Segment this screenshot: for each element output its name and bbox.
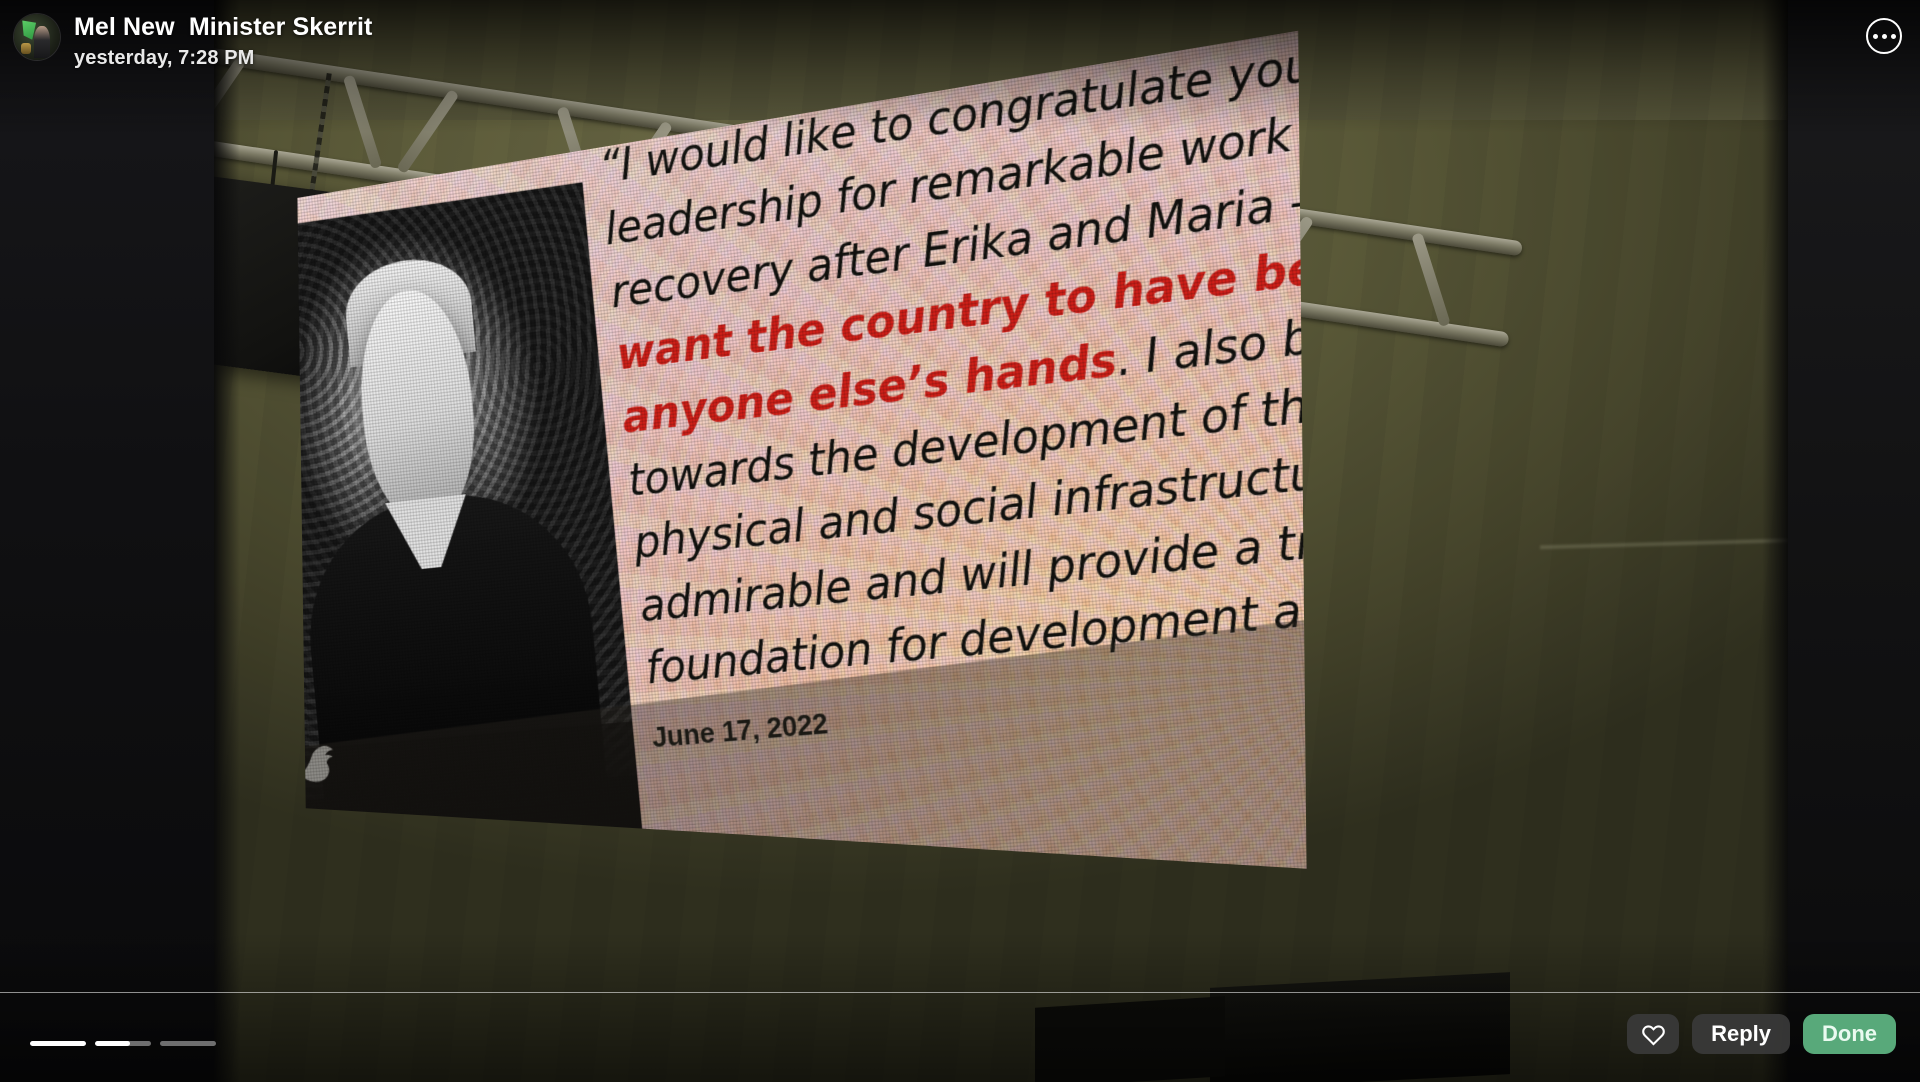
story-actions: Reply Done (1627, 1014, 1896, 1054)
story-media[interactable]: GREGOR NASSIEF Kudos to PM Skerrit and D… (0, 0, 1920, 1082)
reply-button[interactable]: Reply (1692, 1014, 1790, 1054)
story-progress (30, 1041, 216, 1046)
avatar[interactable] (14, 14, 60, 60)
stage-equipment (1210, 972, 1510, 1082)
heart-icon (1641, 1023, 1666, 1046)
stage-equipment (1035, 996, 1225, 1082)
story-viewer: GREGOR NASSIEF Kudos to PM Skerrit and D… (0, 0, 1920, 1082)
progress-segment[interactable] (160, 1041, 216, 1046)
letterbox-left (0, 0, 214, 1082)
bottom-divider (0, 992, 1920, 993)
quote-date: June 17, 2022 (651, 706, 830, 753)
story-timestamp: yesterday, 7:28 PM (74, 47, 372, 70)
story-author-name: Mel New Minister Skerrit (74, 13, 372, 43)
more-options-icon[interactable] (1866, 18, 1902, 54)
done-button[interactable]: Done (1803, 1014, 1896, 1054)
like-button[interactable] (1627, 1014, 1679, 1054)
progress-segment[interactable] (30, 1041, 86, 1046)
story-header: Mel New Minister Skerrit yesterday, 7:28… (0, 0, 1920, 92)
letterbox-right (1788, 0, 1920, 1082)
progress-segment[interactable] (95, 1041, 151, 1046)
